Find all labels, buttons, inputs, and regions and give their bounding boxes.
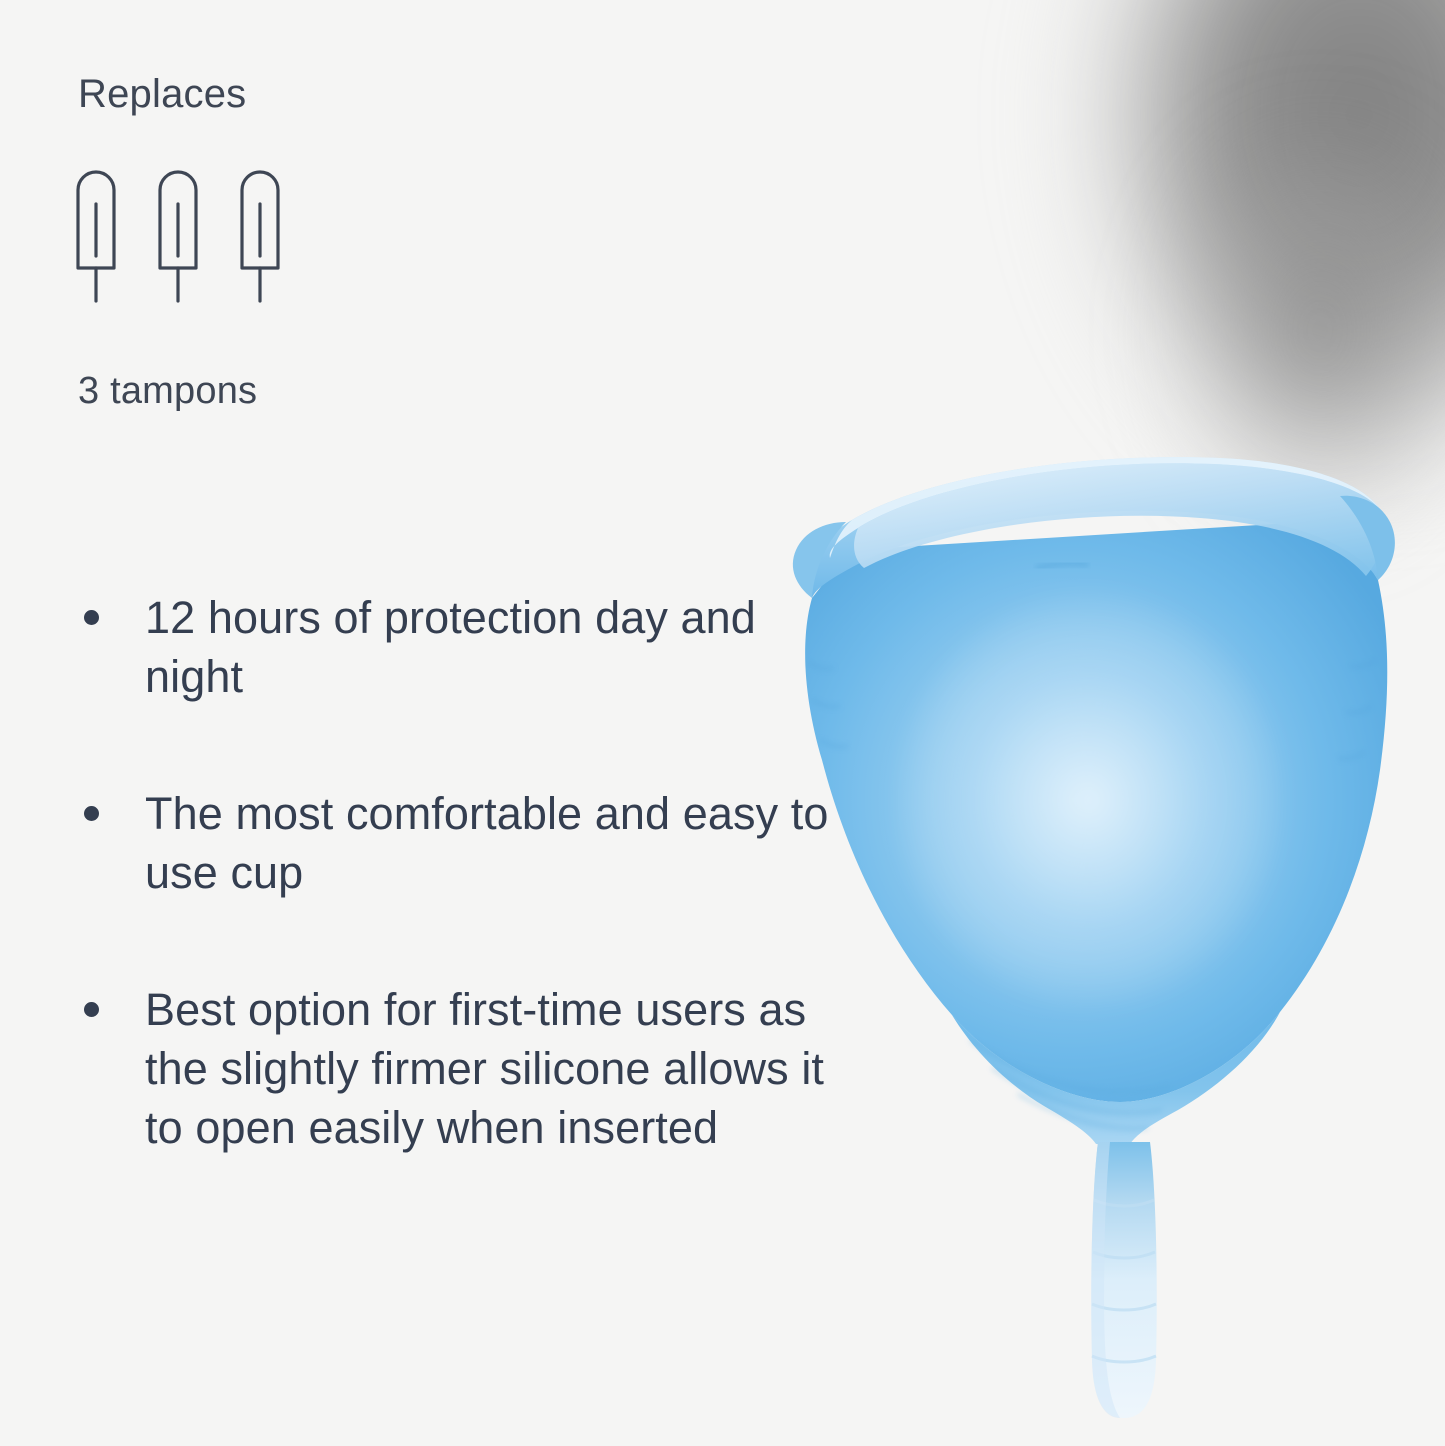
cup-highlight bbox=[890, 585, 1290, 1015]
cup-stem bbox=[1091, 1142, 1157, 1418]
content-column: Replaces 3 tampons 12 hours of protectio… bbox=[0, 0, 860, 1446]
replaces-heading: Replaces bbox=[78, 72, 246, 117]
cup-base-ribs bbox=[970, 1040, 1170, 1129]
stem-grip-rings bbox=[1092, 1200, 1156, 1362]
cup-base bbox=[952, 1012, 1280, 1144]
tampon-icon bbox=[239, 168, 281, 303]
tampons-count-caption: 3 tampons bbox=[78, 370, 257, 413]
cup-rim-outer bbox=[810, 457, 1390, 598]
background-shadow-blob bbox=[925, 0, 1445, 510]
cup-right-ribs bbox=[1338, 660, 1376, 759]
benefit-item: The most comfortable and easy to use cup bbox=[70, 784, 860, 903]
cup-air-hole bbox=[1038, 563, 1086, 568]
benefits-list: 12 hours of protection day and night The… bbox=[70, 588, 860, 1158]
benefit-text: 12 hours of protection day and night bbox=[145, 592, 756, 702]
bullet-icon bbox=[84, 1002, 99, 1017]
benefit-text: Best option for first-time users as the … bbox=[145, 984, 824, 1154]
background-shadow-blob-secondary bbox=[1155, 120, 1445, 540]
tampon-icon bbox=[157, 168, 199, 303]
cup-rim-inner bbox=[830, 457, 1382, 558]
tampon-icon bbox=[75, 168, 117, 303]
stem-shade bbox=[1091, 1142, 1120, 1418]
benefit-item: 12 hours of protection day and night bbox=[70, 588, 860, 707]
cup-rim-lip-right bbox=[1340, 496, 1395, 580]
bullet-icon bbox=[84, 806, 99, 821]
tampon-icon-group bbox=[75, 168, 281, 303]
bullet-icon bbox=[84, 610, 99, 625]
benefit-text: The most comfortable and easy to use cup bbox=[145, 788, 829, 898]
benefit-item: Best option for first-time users as the … bbox=[70, 980, 860, 1158]
cup-rim-cavity bbox=[854, 463, 1383, 576]
cup-body bbox=[805, 520, 1387, 1102]
